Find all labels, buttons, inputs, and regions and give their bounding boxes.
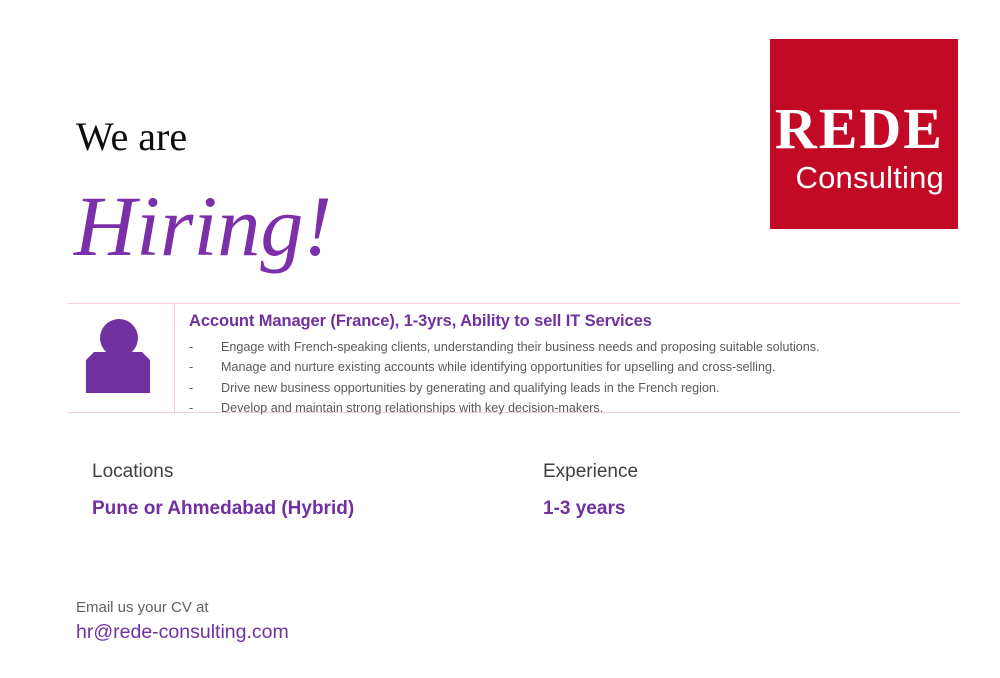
contact-label: Email us your CV at (76, 598, 289, 618)
job-icon-cell (68, 304, 175, 412)
company-logo: REDE Consulting (770, 39, 958, 229)
logo-secondary-text: Consulting (796, 161, 944, 195)
headline-line-2: Hiring! (74, 183, 332, 269)
list-item: - Develop and maintain strong relationsh… (189, 398, 960, 418)
responsibility-text: Drive new business opportunities by gene… (221, 378, 960, 398)
fact-locations: Locations Pune or Ahmedabad (Hybrid) (92, 461, 543, 521)
contact-block: Email us your CV at hr@rede-consulting.c… (76, 598, 289, 645)
person-head-shape (100, 319, 138, 357)
fact-label-experience: Experience (543, 461, 892, 484)
bullet-marker: - (189, 398, 221, 418)
logo-primary-text: REDE (775, 99, 944, 158)
job-title: Account Manager (France), 1-3yrs, Abilit… (189, 312, 960, 332)
responsibility-text: Develop and maintain strong relationship… (221, 398, 960, 418)
fact-label-locations: Locations (92, 461, 543, 484)
contact-email-link[interactable]: hr@rede-consulting.com (76, 619, 289, 645)
headline-line-1: We are (76, 117, 187, 157)
person-body-shape (86, 352, 150, 393)
responsibility-text: Manage and nurture existing accounts whi… (221, 357, 960, 377)
bullet-marker: - (189, 337, 221, 357)
responsibility-text: Engage with French-speaking clients, und… (221, 337, 960, 357)
job-description-table: Account Manager (France), 1-3yrs, Abilit… (68, 303, 960, 413)
hiring-poster: REDE Consulting We are Hiring! Account M… (0, 0, 1000, 678)
list-item: - Engage with French-speaking clients, u… (189, 337, 960, 357)
list-item: - Manage and nurture existing accounts w… (189, 357, 960, 377)
job-responsibilities-list: - Engage with French-speaking clients, u… (189, 337, 960, 419)
bullet-marker: - (189, 378, 221, 398)
fact-value-experience: 1-3 years (543, 498, 892, 521)
fact-value-locations: Pune or Ahmedabad (Hybrid) (92, 498, 543, 521)
job-facts-row: Locations Pune or Ahmedabad (Hybrid) Exp… (92, 461, 892, 521)
fact-experience: Experience 1-3 years (543, 461, 892, 521)
list-item: - Drive new business opportunities by ge… (189, 378, 960, 398)
bullet-marker: - (189, 357, 221, 377)
job-text-cell: Account Manager (France), 1-3yrs, Abilit… (175, 304, 960, 412)
person-icon (86, 319, 150, 399)
